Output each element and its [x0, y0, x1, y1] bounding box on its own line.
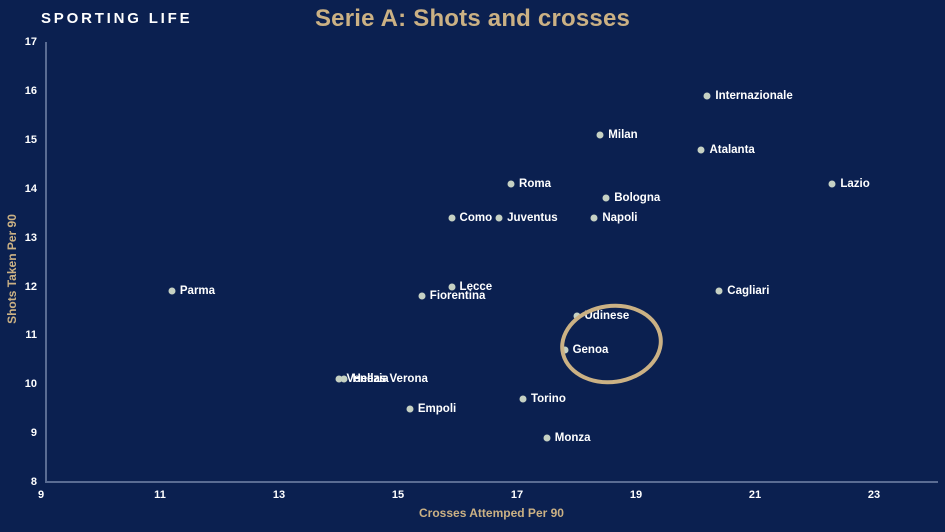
y-tick-label: 14 [25, 183, 37, 195]
scatter-point-label: Atalanta [709, 144, 754, 156]
scatter-point[interactable] [418, 293, 425, 300]
scatter-point[interactable] [591, 215, 598, 222]
x-tick-label: 21 [749, 489, 761, 501]
x-axis-title: Crosses Attemped Per 90 [45, 506, 938, 520]
y-axis-line [45, 42, 47, 483]
scatter-point[interactable] [406, 405, 413, 412]
x-tick-label: 13 [273, 489, 285, 501]
scatter-point-label: Internazionale [715, 90, 792, 102]
scatter-point-label: Bologna [614, 192, 660, 204]
scatter-point[interactable] [448, 283, 455, 290]
scatter-point-label: Fiorentina [430, 290, 486, 302]
scatter-point-label: Milan [608, 129, 637, 141]
scatter-point-label: Venezia [347, 373, 389, 385]
x-tick-label: 9 [38, 489, 44, 501]
scatter-point-label: Lazio [840, 178, 869, 190]
x-tick-label: 15 [392, 489, 404, 501]
scatter-point[interactable] [448, 215, 455, 222]
scatter-point-label: Como [460, 212, 493, 224]
x-tick-label: 23 [868, 489, 880, 501]
y-tick-label: 16 [25, 85, 37, 97]
scatter-point[interactable] [519, 395, 526, 402]
scatter-point-label: Parma [180, 285, 215, 297]
scatter-point[interactable] [335, 376, 342, 383]
y-tick-label: 10 [25, 378, 37, 390]
x-tick-label: 17 [511, 489, 523, 501]
scatter-point-label: Monza [555, 432, 591, 444]
scatter-point[interactable] [597, 131, 604, 138]
highlight-ellipse-annotation [555, 297, 668, 391]
chart-canvas: SPORTING LIFE Serie A: Shots and crosses… [0, 0, 945, 532]
scatter-point-label: Torino [531, 393, 566, 405]
scatter-point-label: Roma [519, 178, 551, 190]
scatter-point[interactable] [716, 288, 723, 295]
y-tick-label: 13 [25, 232, 37, 244]
scatter-point[interactable] [704, 92, 711, 99]
scatter-point[interactable] [543, 435, 550, 442]
y-axis-title: Shots Taken Per 90 [5, 179, 19, 359]
scatter-point[interactable] [603, 195, 610, 202]
y-tick-label: 11 [25, 329, 37, 341]
scatter-point[interactable] [496, 215, 503, 222]
x-tick-label: 11 [154, 489, 166, 501]
scatter-point[interactable] [698, 146, 705, 153]
x-axis-line [45, 481, 938, 483]
x-tick-label: 19 [630, 489, 642, 501]
scatter-point[interactable] [508, 180, 515, 187]
scatter-point-label: Empoli [418, 403, 456, 415]
scatter-point[interactable] [829, 180, 836, 187]
scatter-point-label: Cagliari [727, 285, 769, 297]
y-tick-label: 17 [25, 36, 37, 48]
scatter-point[interactable] [168, 288, 175, 295]
y-tick-label: 12 [25, 281, 37, 293]
y-tick-label: 8 [31, 476, 37, 488]
y-tick-label: 9 [31, 427, 37, 439]
scatter-point-label: Napoli [602, 212, 637, 224]
chart-title: Serie A: Shots and crosses [0, 5, 945, 33]
y-tick-label: 15 [25, 134, 37, 146]
scatter-point-label: Juventus [507, 212, 558, 224]
